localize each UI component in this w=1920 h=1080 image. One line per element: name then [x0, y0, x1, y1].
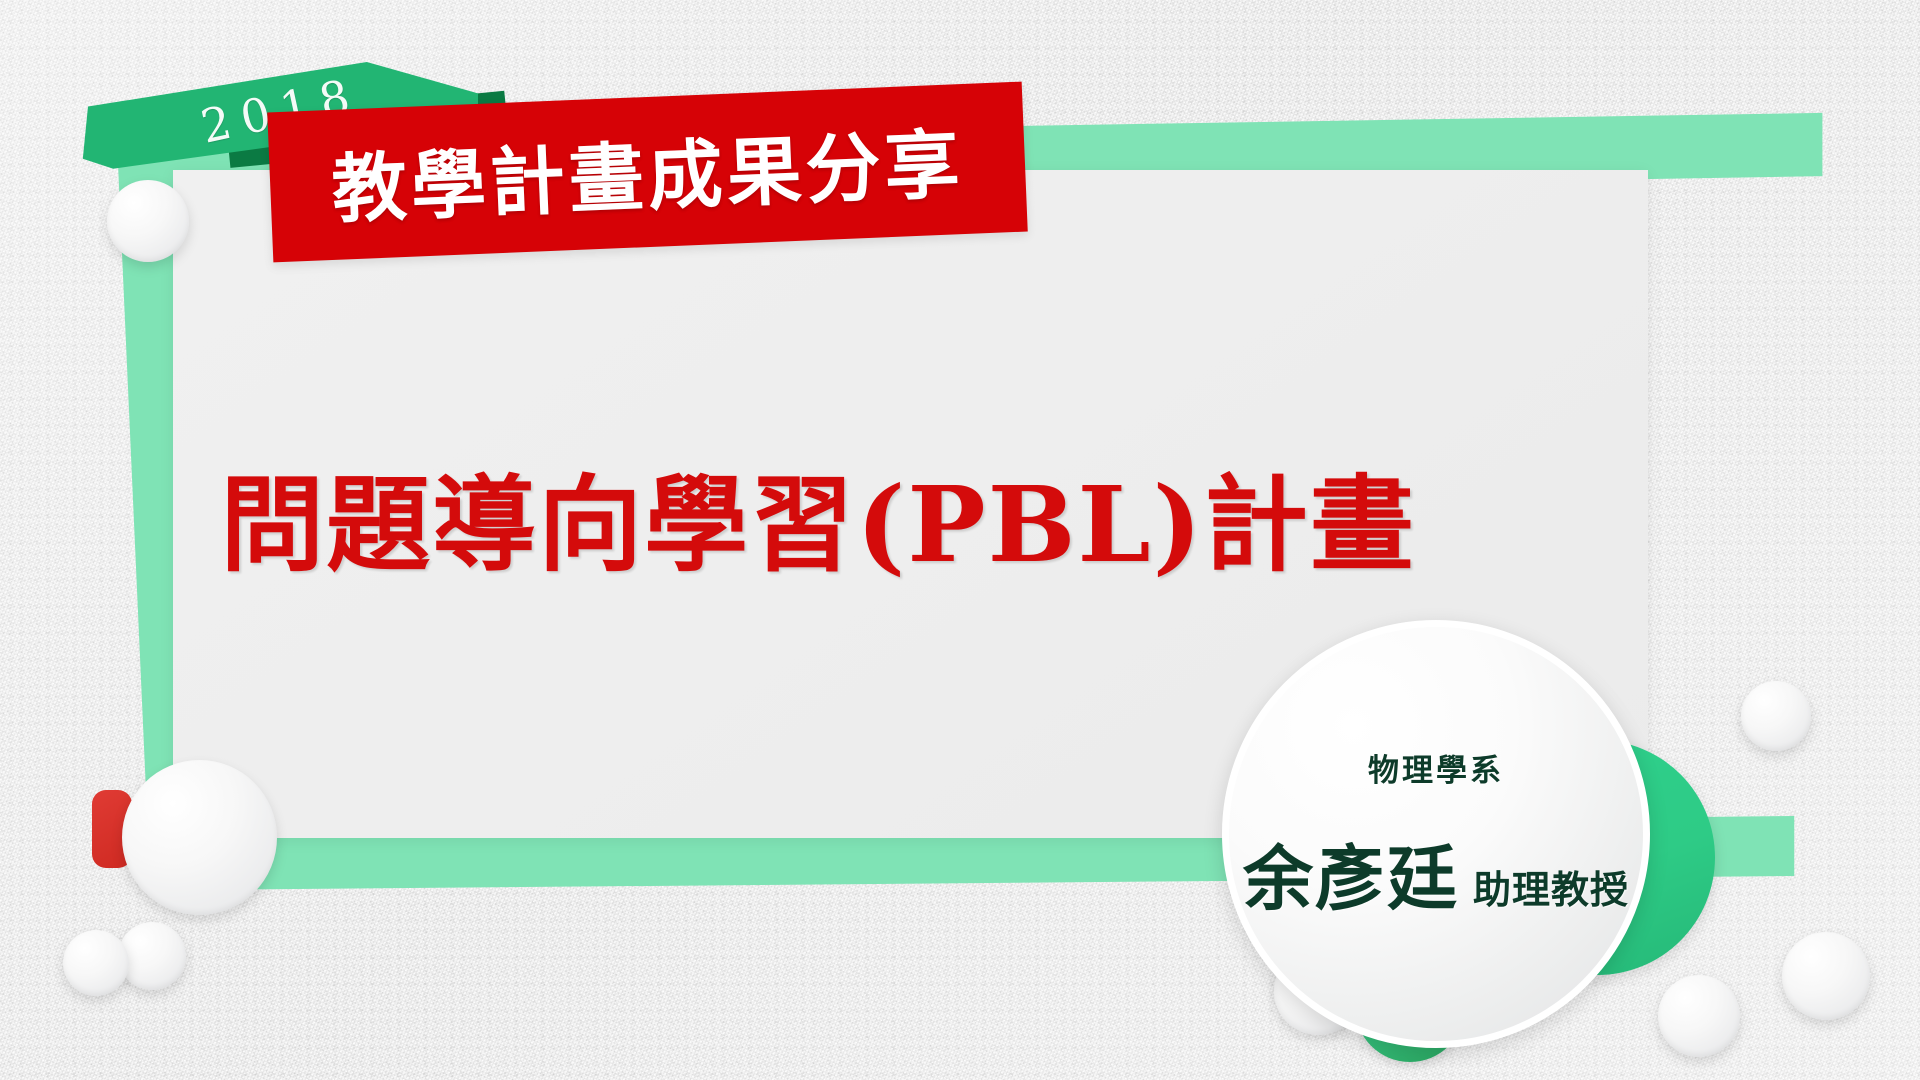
presenter-department: 物理學系 [1229, 745, 1643, 790]
presenter-rank: 助理教授 [1473, 859, 1629, 914]
decorative-circle-right-upper [1741, 681, 1811, 751]
event-banner: 教學計畫成果分享 [267, 82, 1028, 263]
decorative-circle-right-bottom [1658, 975, 1740, 1057]
presenter-badge: 物理學系 余彥廷 助理教授 [1222, 620, 1650, 1048]
decorative-circle-bottom-left-edge [63, 930, 129, 996]
decorative-circle-right-lower [1782, 932, 1870, 1020]
slide-title: 問題導向學習(PBL)計畫 [173, 440, 1463, 591]
presenter-name-row: 余彥廷 助理教授 [1229, 823, 1643, 924]
presenter-name: 余彥廷 [1243, 823, 1459, 924]
event-banner-text: 教學計畫成果分享 [329, 103, 965, 238]
decorative-circle-bottom-left-large [122, 760, 277, 915]
slide-canvas: 物理學系 余彥廷 助理教授 2018 教學計畫成果分享 問題導向學習(PBL)計… [0, 0, 1920, 1080]
